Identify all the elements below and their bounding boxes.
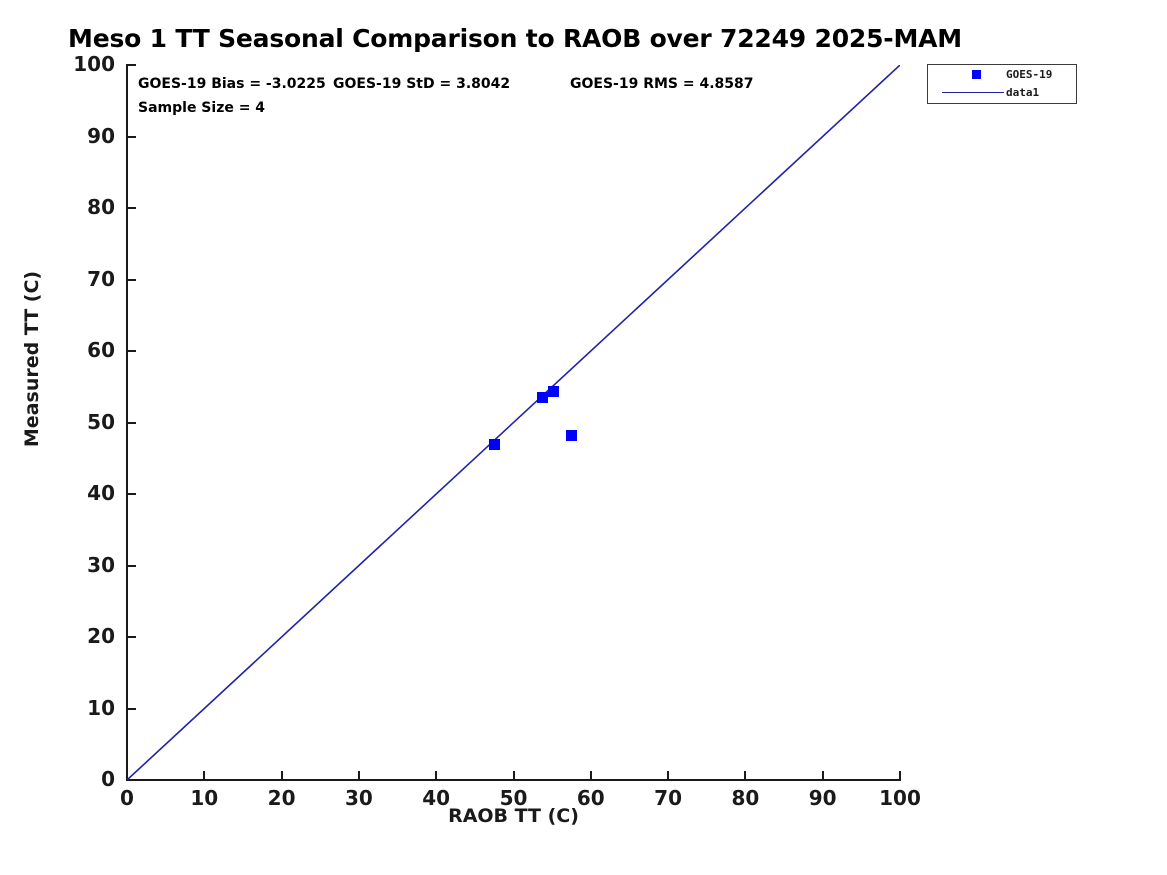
legend-item-data1[interactable]: data1 <box>928 83 1076 102</box>
y-tick-label: 100 <box>55 52 115 76</box>
legend-label-data1: data1 <box>1006 86 1039 99</box>
y-tick-label: 90 <box>55 124 115 148</box>
page-title: Meso 1 TT Seasonal Comparison to RAOB ov… <box>0 24 1030 53</box>
legend[interactable]: GOES-19 data1 <box>927 64 1077 104</box>
y-tick-label: 40 <box>55 481 115 505</box>
data-point-marker <box>489 439 500 450</box>
legend-line-icon <box>942 92 1004 93</box>
reference-line <box>127 65 900 780</box>
data-point-marker <box>566 430 577 441</box>
legend-item-goes19[interactable]: GOES-19 <box>928 65 1076 84</box>
y-tick-label: 60 <box>55 338 115 362</box>
data-point-marker <box>537 392 548 403</box>
data-point-marker <box>548 386 559 397</box>
y-tick-label: 30 <box>55 553 115 577</box>
y-tick-label: 80 <box>55 195 115 219</box>
y-tick-label: 20 <box>55 624 115 648</box>
y-tick-label: 70 <box>55 267 115 291</box>
chart-figure: Meso 1 TT Seasonal Comparison to RAOB ov… <box>0 0 1167 875</box>
y-axis-label: Measured TT (C) <box>21 229 43 489</box>
y-tick-label: 10 <box>55 696 115 720</box>
x-axis-label: RAOB TT (C) <box>127 805 900 827</box>
legend-square-marker-icon <box>972 70 981 79</box>
plot-area <box>127 65 900 780</box>
legend-label-goes19: GOES-19 <box>1006 68 1052 81</box>
y-tick-label: 50 <box>55 410 115 434</box>
